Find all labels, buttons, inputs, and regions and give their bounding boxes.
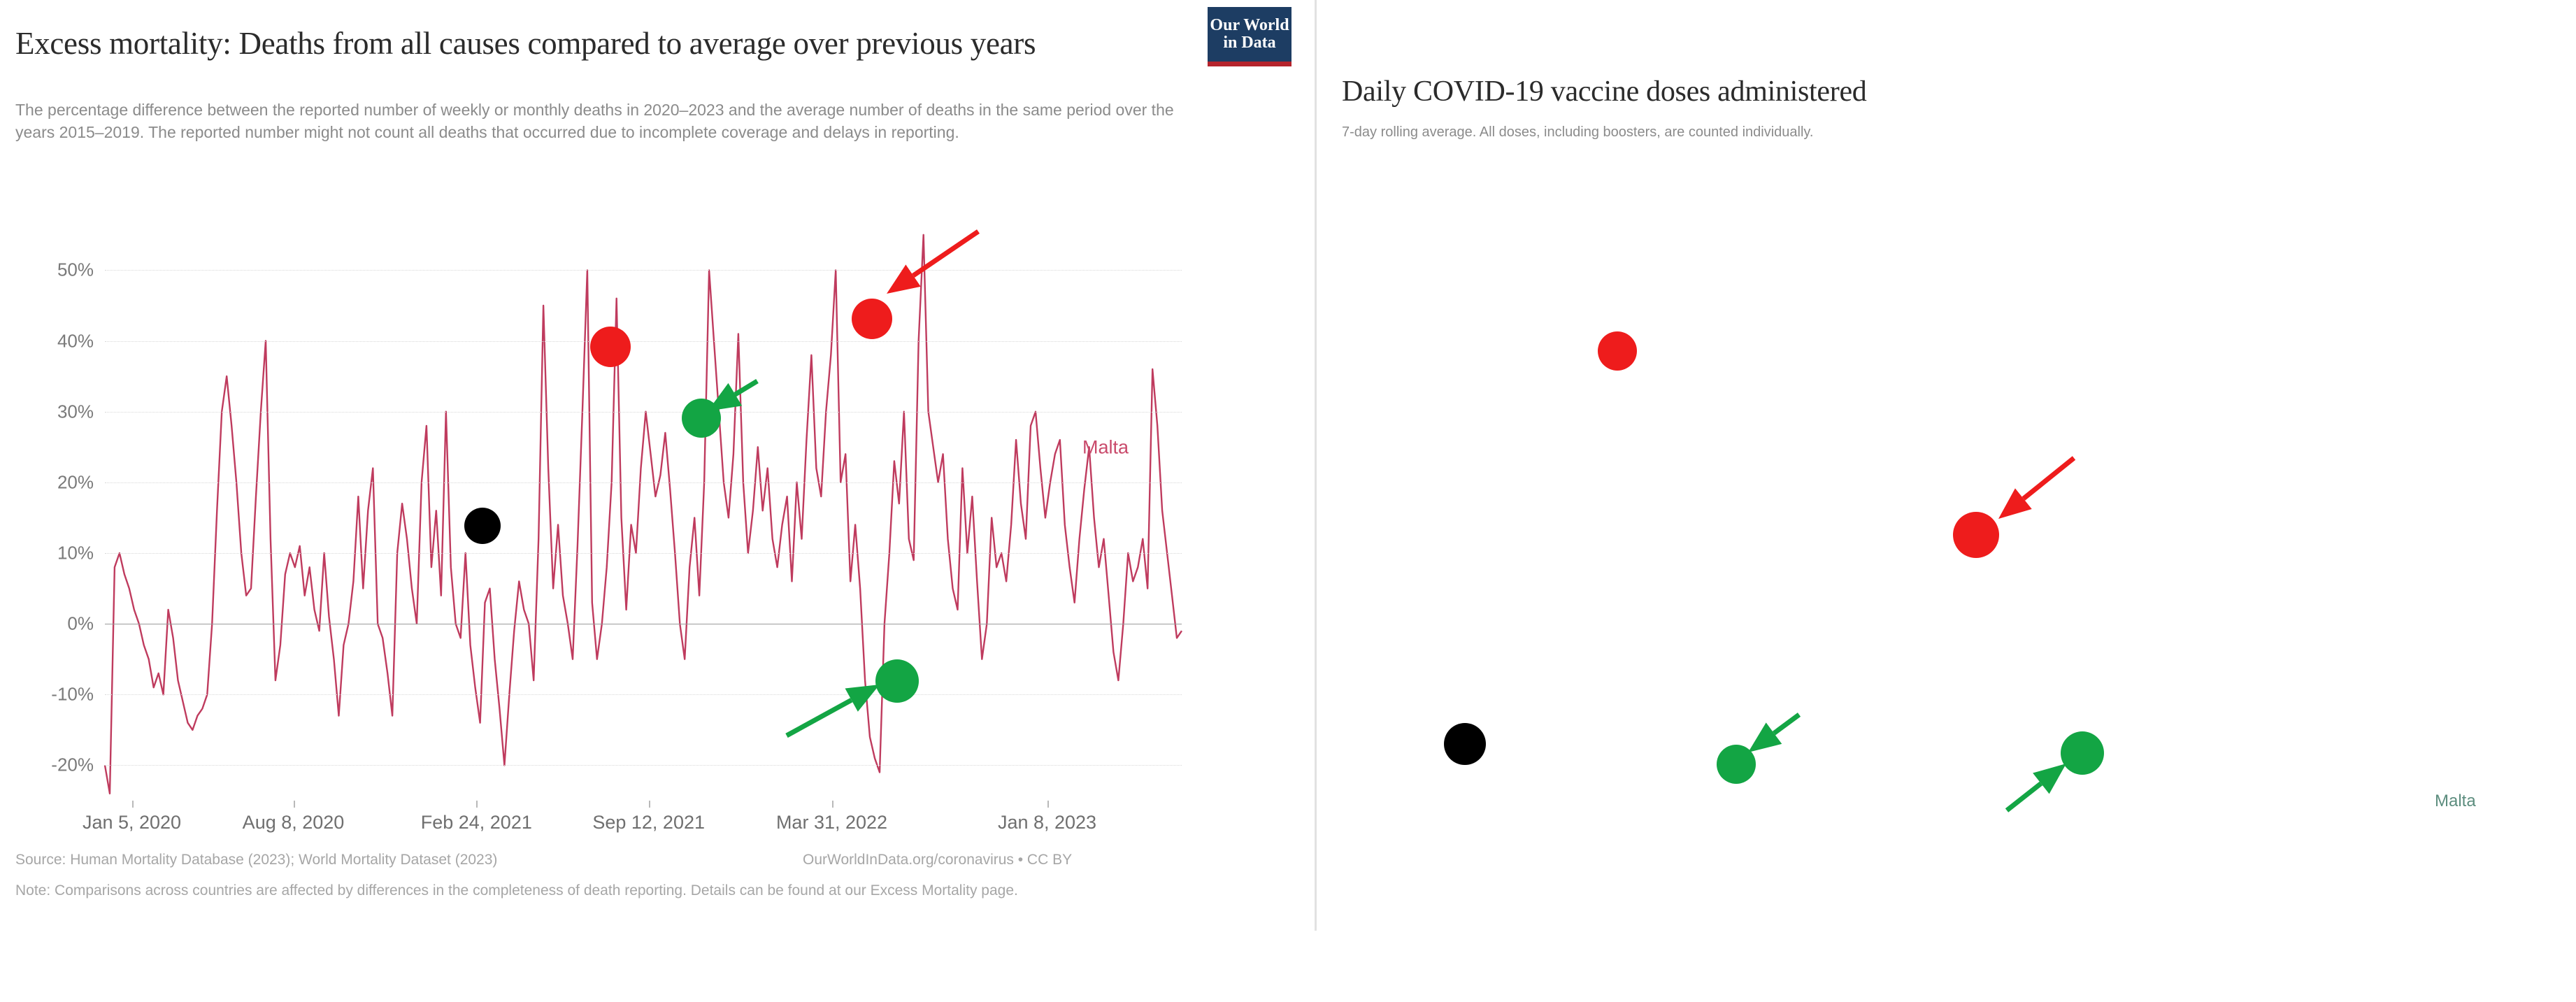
gridline <box>105 341 1182 342</box>
logo-line-2: in Data <box>1223 34 1275 52</box>
y-axis-tick-label: -10% <box>51 684 94 706</box>
page-title: Excess mortality: Deaths from all causes… <box>15 25 1197 62</box>
annotation-black-marker-left <box>464 508 501 544</box>
annotation-red-marker-1-right <box>1598 331 1637 371</box>
gridline <box>105 765 1182 766</box>
y-axis-tick-label: 30% <box>57 401 94 422</box>
x-axis-tick-mark <box>832 801 833 808</box>
series-label-malta: Malta <box>1082 437 1129 459</box>
chart-subtitle: The percentage difference between the re… <box>15 99 1204 143</box>
annotation-green-marker-2-right <box>2061 731 2104 775</box>
x-axis-tick-mark <box>1047 801 1049 808</box>
annotation-green-marker-2-left <box>875 659 919 703</box>
series-label-malta-right: Malta <box>2435 792 2476 811</box>
our-world-in-data-logo[interactable]: Our World in Data <box>1208 7 1291 66</box>
chart-subtitle-right: 7-day rolling average. All doses, includ… <box>1342 122 2321 142</box>
gridline <box>105 270 1182 271</box>
x-axis-tick-label: Jan 5, 2020 <box>83 812 181 833</box>
gridline <box>105 624 1182 624</box>
annotation-green-marker-1-left <box>682 399 721 438</box>
gridline <box>105 553 1182 554</box>
annotation-black-marker-right <box>1444 723 1486 765</box>
annotation-red-marker-1-left <box>590 327 631 367</box>
x-axis-tick-label: Feb 24, 2021 <box>421 812 532 833</box>
source-text: Source: Human Mortality Database (2023);… <box>15 852 497 868</box>
excess-mortality-plot[interactable]: 50%40%30%20%10%0%-10%-20%Jan 5, 2020Aug … <box>105 185 1182 801</box>
y-axis-tick-label: 10% <box>57 542 94 564</box>
annotation-red-marker-2-right <box>1953 512 1999 558</box>
annotation-green-marker-1-right <box>1717 745 1756 784</box>
annotation-red-marker-2-left <box>852 299 892 339</box>
x-axis-tick-label: Mar 31, 2022 <box>776 812 887 833</box>
x-axis-tick-mark <box>649 801 650 808</box>
x-axis-tick-label: Sep 12, 2021 <box>592 812 705 833</box>
y-axis-tick-label: 50% <box>57 259 94 281</box>
x-axis-tick-mark <box>476 801 478 808</box>
x-axis-tick-mark <box>294 801 295 808</box>
note-text: Note: Comparisons across countries are a… <box>15 880 1204 901</box>
y-axis-tick-label: 40% <box>57 330 94 352</box>
logo-line-1: Our World <box>1210 17 1289 34</box>
y-axis-tick-label: -20% <box>51 754 94 776</box>
gridline <box>105 694 1182 695</box>
excess-mortality-panel: Excess mortality: Deaths from all causes… <box>0 0 1315 931</box>
x-axis-tick-label: Jan 8, 2023 <box>998 812 1096 833</box>
gridline <box>105 482 1182 483</box>
y-axis-tick-label: 0% <box>67 613 94 635</box>
y-axis-tick-label: 20% <box>57 471 94 493</box>
gridline <box>105 412 1182 413</box>
vaccine-doses-panel: Daily COVID-19 vaccine doses administere… <box>1315 0 2576 931</box>
x-axis-tick-mark <box>132 801 134 808</box>
x-axis-tick-label: Aug 8, 2020 <box>243 812 345 833</box>
excess-mortality-line <box>105 185 1182 801</box>
page-title-right: Daily COVID-19 vaccine doses administere… <box>1342 74 2391 109</box>
owid-credit[interactable]: OurWorldInData.org/coronavirus • CC BY <box>803 852 1072 868</box>
